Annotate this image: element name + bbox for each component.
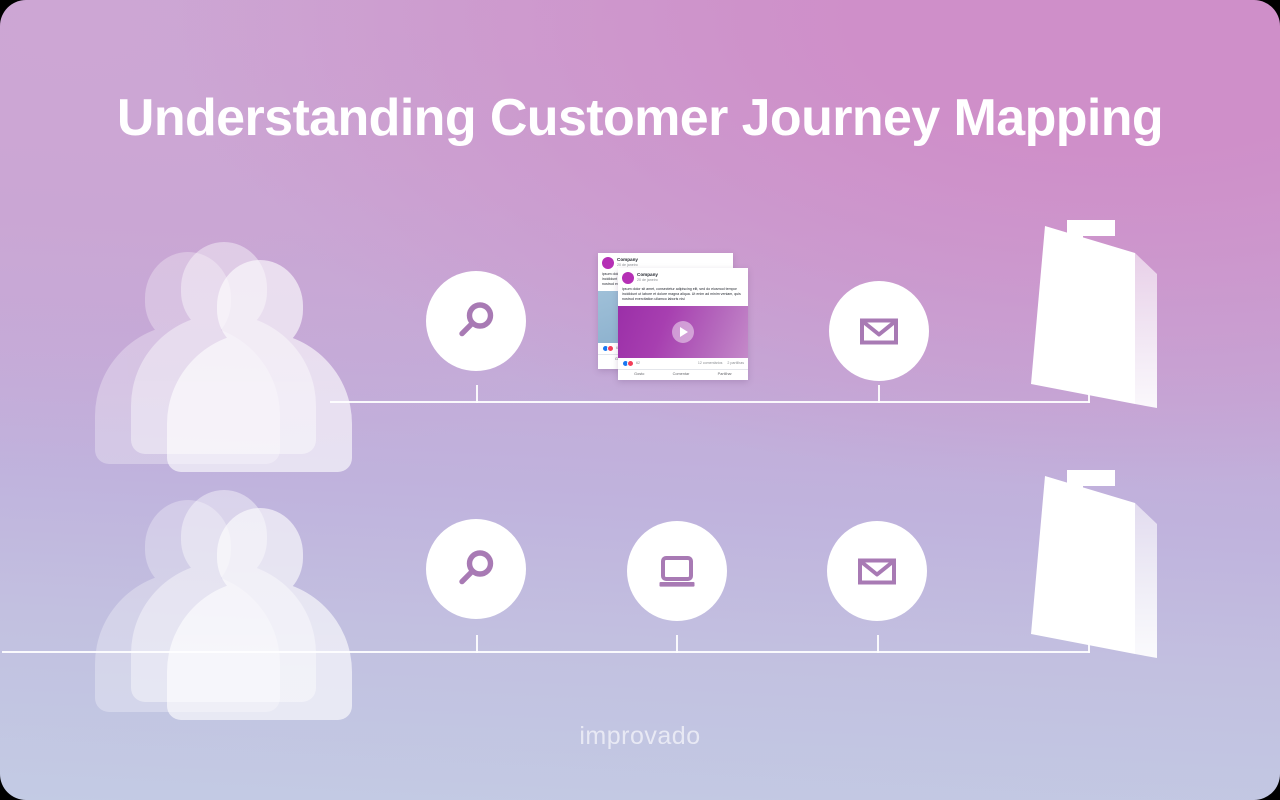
website-stage-bottom[interactable] [627,521,727,621]
laptop-icon [653,547,701,595]
timeline-tick-top-2 [878,385,880,403]
post-video-thumbnail[interactable] [618,306,748,358]
post-date: 20 de janeiro [637,279,658,283]
reaction-icons [622,360,634,367]
reaction-icons [602,345,614,352]
social-post-stack: Company 20 de janeiro ipsum dolor sit am… [598,243,758,383]
email-icon [854,548,900,594]
avatar [602,257,614,269]
comment-button[interactable]: Comentar [673,372,690,376]
audience-people-icon-bottom [95,478,350,708]
timeline-tick-top-1 [476,385,478,403]
timeline-tick-bottom-2 [676,635,678,653]
post-stats: 62 12 comentários 2 partilhas [618,358,748,370]
avatar [622,272,634,284]
timeline-tick-bottom-3 [877,635,879,653]
comment-count: 12 comentários [698,361,723,365]
shopping-bag-shape [1025,212,1175,408]
email-icon [856,308,902,354]
social-post-card-front[interactable]: Company 20 de janeiro ipsum dolor sit am… [618,268,748,380]
timeline-axis-top [330,401,1090,403]
email-stage-top[interactable] [829,281,929,381]
slide-canvas: Understanding Customer Journey Mapping [0,0,1280,800]
search-stage-bottom[interactable] [426,519,526,619]
timeline-tick-bottom-1 [476,635,478,653]
person-silhouette [167,508,352,723]
search-icon [452,545,500,593]
person-silhouette [167,260,352,475]
email-stage-bottom[interactable] [827,521,927,621]
audience-people-icon-top [95,230,350,460]
page-title: Understanding Customer Journey Mapping [0,90,1280,147]
reaction-count: 62 [636,361,640,365]
post-actions: Gosto Comentar Partilhar [618,370,748,379]
shopping-bag-icon-bottom [1025,462,1175,658]
like-button[interactable]: Gosto [634,372,644,376]
play-icon[interactable] [672,321,694,343]
post-body: ipsum dolor sit amet, consectetur adipis… [618,286,748,306]
shopping-bag-icon-top [1025,212,1175,408]
search-icon [452,297,500,345]
shopping-bag-shape [1025,462,1175,658]
search-stage-top[interactable] [426,271,526,371]
share-count: 2 partilhas [727,361,744,365]
post-header: Company 20 de janeiro [618,268,748,286]
brand-logo: improvado [0,722,1280,751]
share-button[interactable]: Partilhar [718,372,732,376]
